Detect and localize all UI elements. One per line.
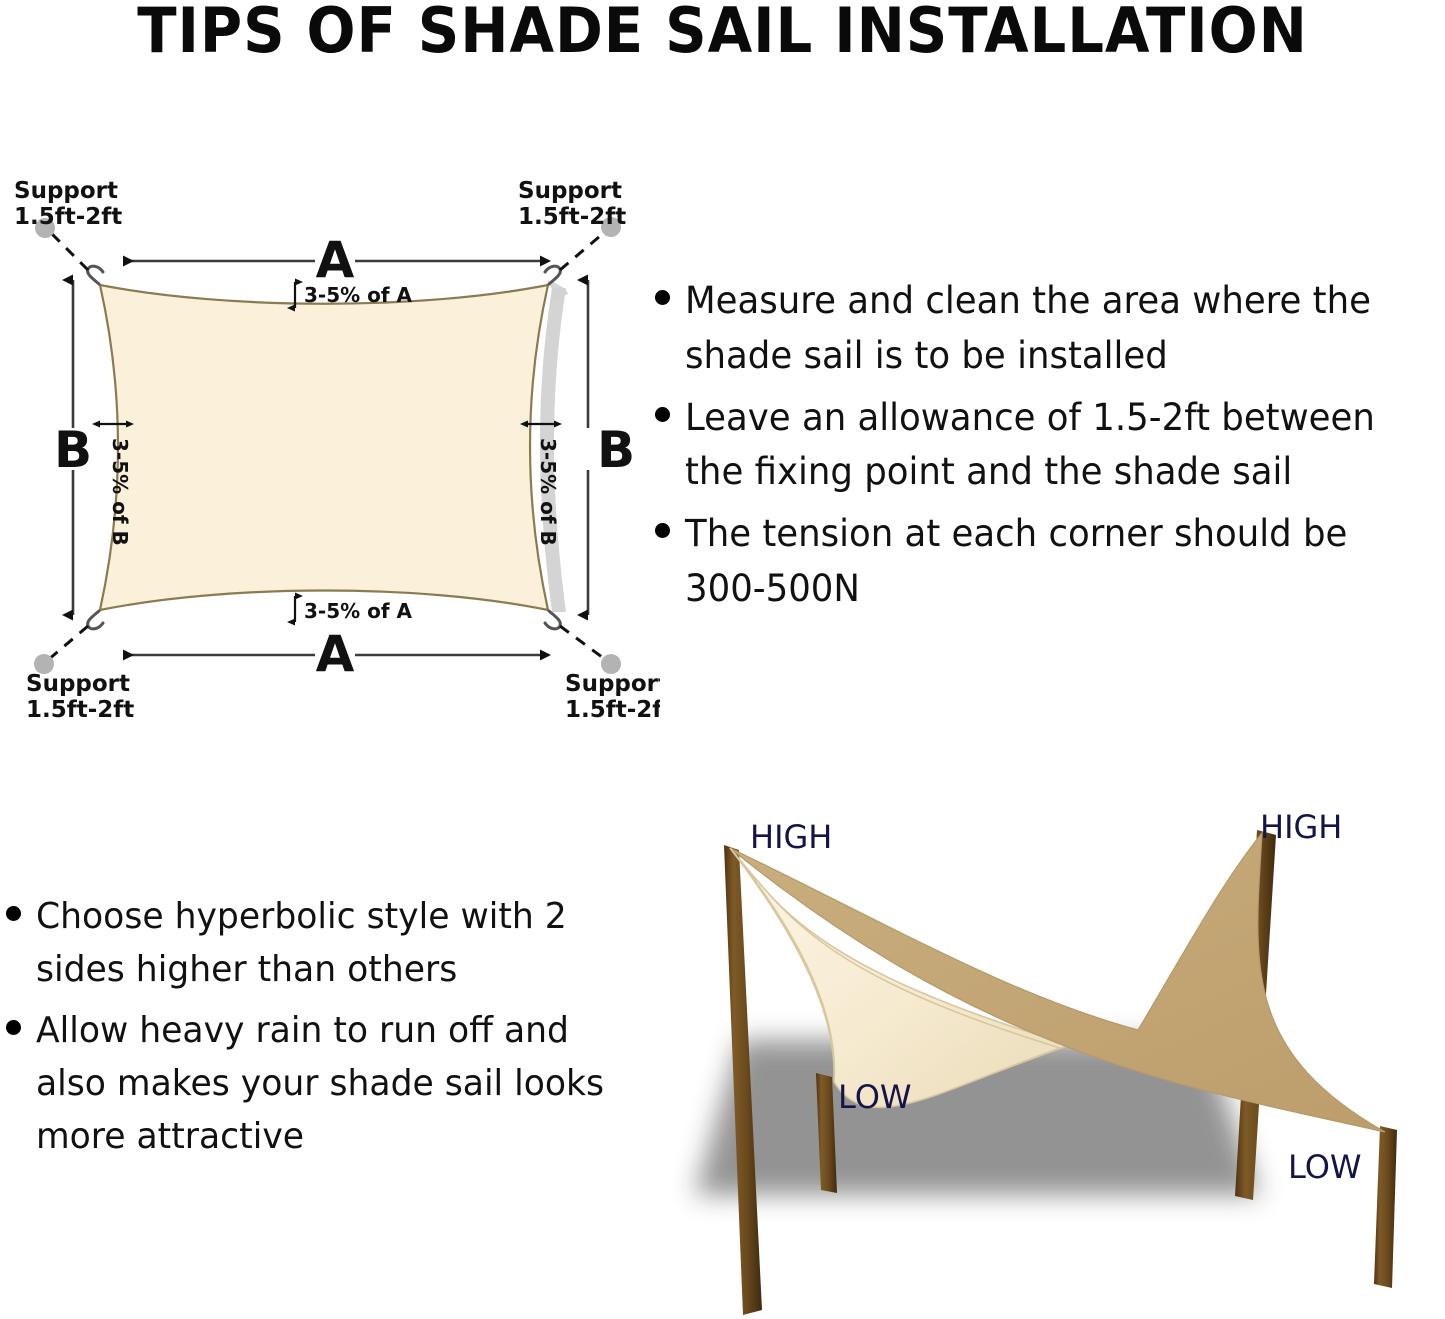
- support-bottom-left-line2: 1.5ft-2ft: [26, 697, 134, 723]
- bullet-dot-icon: [655, 523, 670, 538]
- dimension-b-left: B: [54, 280, 92, 615]
- infographic-page: TIPS OF SHADE SAIL INSTALLATION: [0, 0, 1445, 1319]
- tip-text: Leave an allowance of 1.5-2ft between th…: [685, 391, 1415, 501]
- support-top-right-line1: Support: [518, 178, 622, 204]
- page-title: TIPS OF SHADE SAIL INSTALLATION: [51, 0, 1395, 67]
- tip-text: Allow heavy rain to run off and also mak…: [36, 1004, 607, 1164]
- corner-d-ring-bottom-left: [88, 611, 103, 629]
- support-top-right-line2: 1.5ft-2ft: [518, 204, 626, 230]
- support-bottom-right-line1: Support: [565, 671, 660, 697]
- support-line-bottom-left: [48, 626, 88, 660]
- bullet-dot-icon: [6, 906, 21, 921]
- list-item: Choose hyperbolic style with 2 sides hig…: [6, 890, 631, 997]
- label-high-left: HIGH: [750, 818, 832, 856]
- support-top-left-line1: Support: [14, 178, 118, 204]
- dimension-a-bottom-label: A: [316, 625, 355, 683]
- top-diagram: Support 1.5ft-2ft Support 1.5ft-2ft Supp…: [0, 160, 660, 730]
- list-item: Leave an allowance of 1.5-2ft between th…: [655, 391, 1445, 501]
- tip-text: Measure and clean the area where the sha…: [685, 274, 1415, 384]
- support-bottom-right-line2: 1.5ft-2ft: [565, 697, 660, 723]
- support-line-top-left: [50, 232, 88, 270]
- curvature-bottom: 3-5% of A: [295, 596, 413, 623]
- dimension-b-right: B: [588, 280, 635, 615]
- post-low-right: [1374, 1126, 1397, 1288]
- support-line-bottom-right: [560, 626, 606, 660]
- dimension-a-bottom: A: [123, 625, 540, 683]
- label-low-left: LOW: [838, 1078, 912, 1116]
- dimension-b-left-label: B: [54, 421, 92, 479]
- curvature-right-label: 3-5% of B: [536, 438, 560, 546]
- dimension-a-top-label: A: [316, 231, 355, 289]
- tip-text: The tension at each corner should be 300…: [685, 507, 1415, 617]
- corner-d-ring-top-right: [545, 266, 560, 284]
- bullet-dot-icon: [6, 1020, 21, 1035]
- curvature-top: 3-5% of A: [295, 282, 413, 308]
- label-low-right: LOW: [1288, 1148, 1362, 1186]
- list-item: Measure and clean the area where the sha…: [655, 274, 1445, 384]
- label-high-right: HIGH: [1260, 808, 1342, 846]
- corner-d-ring-bottom-right: [545, 611, 560, 629]
- dimension-a-top: A: [123, 231, 540, 289]
- bottom-diagram: HIGH HIGH LOW LOW: [640, 790, 1445, 1319]
- tips-list-left: Choose hyperbolic style with 2 sides hig…: [6, 890, 631, 1170]
- list-item: The tension at each corner should be 300…: [655, 507, 1445, 617]
- corner-d-ring-top-left: [88, 266, 103, 284]
- support-top-left-line2: 1.5ft-2ft: [14, 204, 122, 230]
- bullet-dot-icon: [655, 290, 670, 305]
- tips-list-right: Measure and clean the area where the sha…: [655, 274, 1445, 624]
- support-bottom-left-line1: Support: [26, 671, 130, 697]
- tip-text: Choose hyperbolic style with 2 sides hig…: [36, 890, 607, 997]
- curvature-top-label: 3-5% of A: [304, 283, 413, 307]
- curvature-left-label: 3-5% of B: [108, 438, 132, 546]
- curvature-bottom-label: 3-5% of A: [304, 599, 413, 623]
- bullet-dot-icon: [655, 407, 670, 422]
- shade-sail-body: [100, 285, 548, 610]
- curvature-left: 3-5% of B: [100, 424, 132, 546]
- dimension-b-right-label: B: [597, 421, 635, 479]
- support-line-top-right: [560, 231, 606, 270]
- list-item: Allow heavy rain to run off and also mak…: [6, 1004, 631, 1164]
